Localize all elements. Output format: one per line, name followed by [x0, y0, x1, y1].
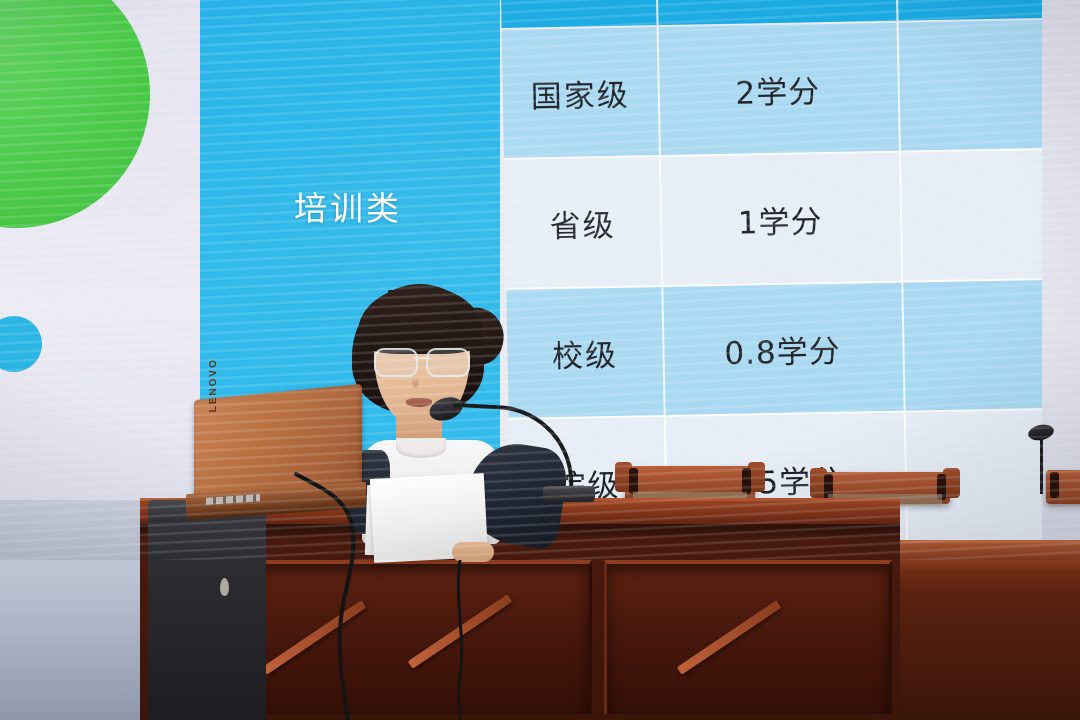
- microphone-neck: [449, 403, 578, 499]
- cell-credit: 2学分: [735, 66, 821, 113]
- left-wall-area: [0, 500, 150, 720]
- cell-level: 国家级: [530, 69, 630, 116]
- header-cell-level: [500, 0, 657, 28]
- chair-back: [625, 466, 755, 502]
- hand: [452, 542, 494, 562]
- photo-scene: 动 培训类 备注 国家级 2学分: [0, 0, 1080, 720]
- nose: [412, 376, 419, 388]
- blue-dot-decoration: [0, 316, 42, 372]
- category-label: 培训类: [294, 182, 402, 230]
- chair-back: [1046, 470, 1080, 504]
- hair-fringe: [366, 302, 452, 342]
- eye-left: [388, 290, 400, 294]
- microphone-base: [543, 486, 595, 502]
- podium-panel: [604, 560, 892, 714]
- lectern-block: [148, 500, 266, 720]
- cell-credit: 0.8学分: [724, 325, 841, 372]
- gooseneck-microphone: [415, 392, 605, 512]
- table-row: 国家级 2学分: [502, 20, 1049, 158]
- header-cell-credit: [655, 0, 897, 25]
- header-cell-remark: 备注: [895, 0, 1047, 21]
- eye-right: [428, 290, 440, 294]
- slide-left-panel: 动: [0, 0, 200, 560]
- table-row: 省级 1学分: [504, 150, 1051, 288]
- lectern-keyhole: [220, 578, 229, 596]
- laptop: LENOVO: [186, 392, 366, 517]
- green-circle-decoration: 动: [0, 0, 150, 228]
- microphone-stem-right: [1040, 436, 1043, 494]
- laptop-brand-logo: LENOVO: [208, 357, 219, 412]
- cell-level: 省级: [549, 199, 616, 245]
- eyeglasses: [374, 348, 470, 373]
- cell-credit: 1学分: [737, 196, 823, 243]
